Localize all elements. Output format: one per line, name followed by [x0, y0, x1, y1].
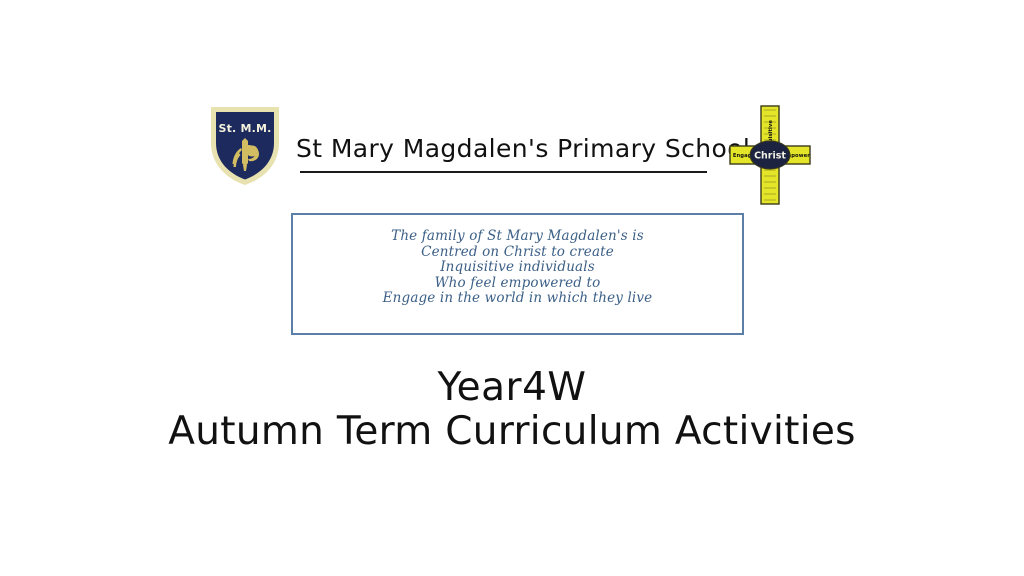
christ-cross-icon: Inquisitive Individuals Engage Empower C…	[722, 100, 818, 210]
mission-line: Inquisitive individuals	[291, 260, 744, 276]
mission-line: The family of St Mary Magdalen's is	[291, 229, 744, 245]
school-crest: St. M.M.	[205, 101, 285, 189]
school-name-underline	[300, 171, 707, 173]
mission-line: Centred on Christ to create	[291, 245, 744, 261]
mission-line: Engage in the world in which they live	[291, 291, 744, 307]
term-curriculum-title: Autumn Term Curriculum Activities	[0, 412, 1024, 451]
mission-statement-text: The family of St Mary Magdalen's is Cent…	[291, 229, 744, 307]
crest-initials-text: St. M.M.	[218, 122, 271, 135]
school-name-title: St Mary Magdalen's Primary School	[296, 136, 716, 162]
year-group-title: Year4W	[0, 368, 1024, 407]
mission-line: Who feel empowered to	[291, 276, 744, 292]
slide-page: St. M.M. St Mary Magdalen's Primary Scho…	[0, 0, 1024, 576]
cross-center-label: Christ	[754, 151, 786, 162]
